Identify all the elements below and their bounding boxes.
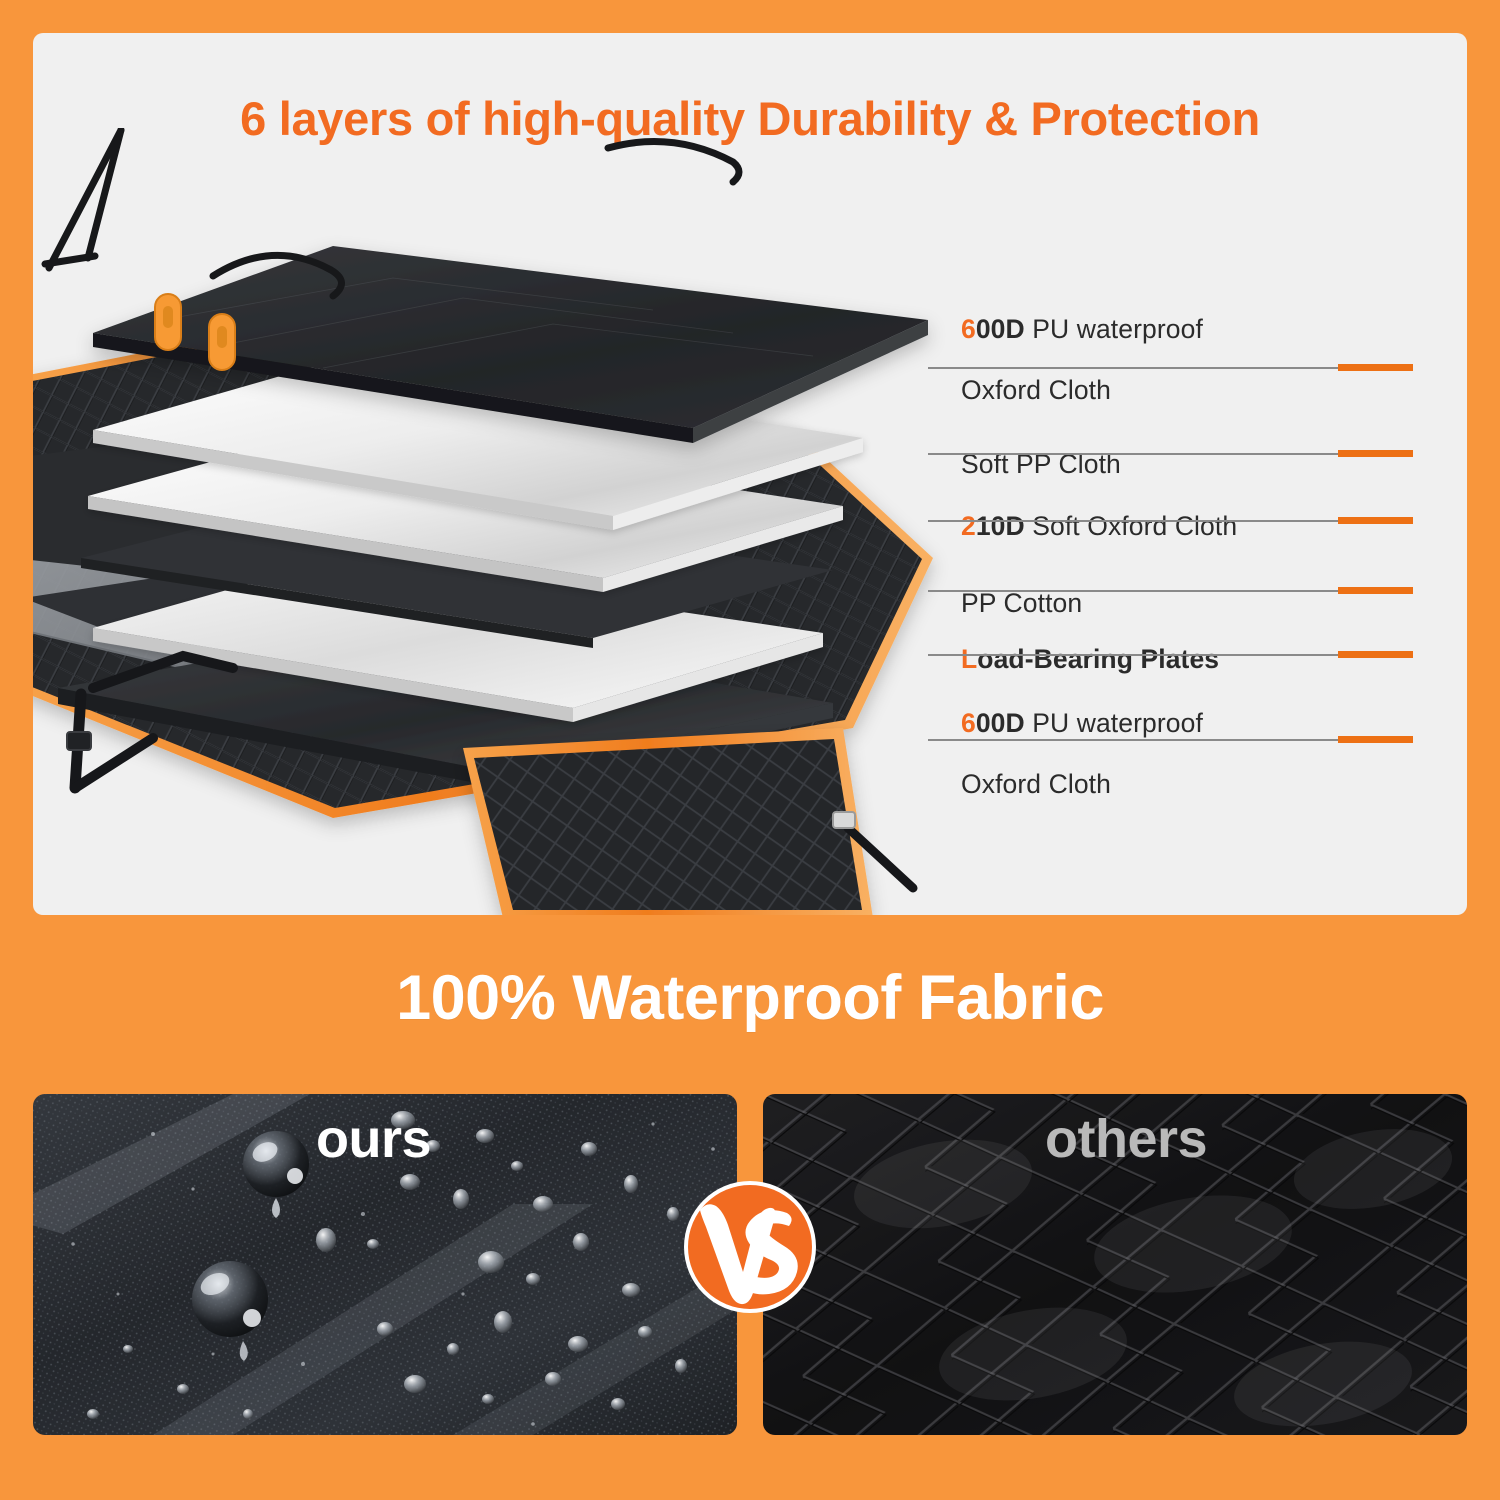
callout-5-leader-line (928, 654, 1371, 656)
callout-1-dash (1338, 364, 1413, 371)
layer-callouts: 600D PU waterproof Oxford Cloth Soft PP … (928, 128, 1467, 915)
layers-panel: 6 layers of high-quality Durability & Pr… (33, 33, 1467, 915)
callout-6-rest: PU waterproof (1025, 708, 1203, 738)
callout-4-dash (1338, 587, 1413, 594)
callout-1-accent: 6 (961, 314, 976, 344)
handle-loop-upper (608, 142, 739, 182)
callout-3-bold: 10D (976, 511, 1025, 541)
callout-6-accent: 6 (961, 708, 976, 738)
waterproof-banner: 100% Waterproof Fabric (0, 918, 1500, 1078)
callout-3-leader-line (928, 520, 1371, 522)
zipper-pull-left (155, 294, 181, 350)
callout-3-rest: Soft Oxford Cloth (1025, 511, 1237, 541)
callout-1-line2: Oxford Cloth (961, 375, 1111, 405)
product-exploded-illustration (33, 128, 963, 915)
callout-1-rest: PU waterproof (1025, 314, 1203, 344)
callout-5-dash (1338, 651, 1413, 658)
callout-2-leader-line (928, 453, 1371, 455)
callout-5-accent: L (961, 644, 977, 674)
vs-badge (683, 1180, 817, 1370)
callout-6-line2: Oxford Cloth (961, 769, 1111, 799)
waterproof-banner-title: 100% Waterproof Fabric (396, 962, 1104, 1034)
callout-6-dash (1338, 736, 1413, 743)
callout-5-bold: oad-Bearing Plates (977, 644, 1219, 674)
callout-2-dash (1338, 450, 1413, 457)
callout-6-leader-line (928, 739, 1371, 741)
callout-1-leader-line (928, 367, 1371, 369)
bottom-fold-flap (463, 728, 873, 915)
zipper-pull-right (209, 314, 235, 370)
callout-3-dash (1338, 517, 1413, 524)
strap-top-left (45, 130, 121, 268)
callout-3-accent: 2 (961, 511, 976, 541)
comparison-panel-ours: ours (33, 1094, 737, 1435)
callout-1-bold: 00D (976, 314, 1025, 344)
comparison-panel-others: others (763, 1094, 1467, 1435)
callout-6-bold: 00D (976, 708, 1025, 738)
callout-4-leader-line (928, 590, 1371, 592)
